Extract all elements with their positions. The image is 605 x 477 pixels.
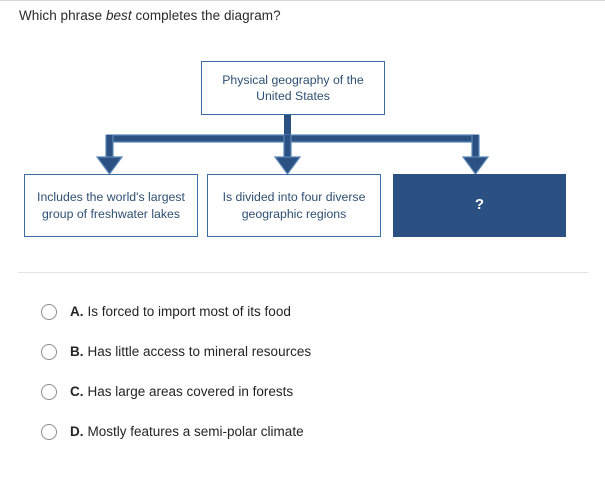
question-prompt: Which phrase best completes the diagram? bbox=[19, 7, 579, 25]
answer-label-d: Mostly features a semi-polar climate bbox=[88, 424, 304, 439]
answer-option-a-text: A.Is forced to import most of its food bbox=[70, 303, 291, 321]
diagram-node-geographic-regions: Is divided into four diverse geographic … bbox=[207, 174, 381, 237]
diagram-node-geographic-regions-label: Is divided into four diverse geographic … bbox=[214, 189, 374, 222]
answer-letter-a: A. bbox=[70, 304, 84, 319]
top-divider bbox=[0, 0, 605, 1]
answer-options-list: A.Is forced to import most of its food B… bbox=[0, 292, 605, 452]
radio-button-a[interactable] bbox=[41, 304, 57, 320]
answer-label-a: Is forced to import most of its food bbox=[88, 304, 291, 319]
answer-option-d[interactable]: D.Mostly features a semi-polar climate bbox=[0, 412, 605, 452]
answer-option-d-text: D.Mostly features a semi-polar climate bbox=[70, 423, 304, 441]
answer-option-b-text: B.Has little access to mineral resources bbox=[70, 343, 311, 361]
radio-button-c[interactable] bbox=[41, 384, 57, 400]
diagram-node-question-mark: ? bbox=[400, 197, 559, 214]
answer-label-c: Has large areas covered in forests bbox=[88, 384, 294, 399]
question-text-before: Which phrase bbox=[19, 8, 106, 23]
diagram-node-freshwater-lakes-label: Includes the world's largest group of fr… bbox=[31, 189, 191, 222]
answer-letter-b: B. bbox=[70, 344, 84, 359]
answer-option-b[interactable]: B.Has little access to mineral resources bbox=[0, 332, 605, 372]
diagram-node-freshwater-lakes: Includes the world's largest group of fr… bbox=[24, 174, 198, 237]
concept-diagram: Physical geography of the United States … bbox=[0, 50, 605, 265]
diagram-node-missing-answer: ? bbox=[393, 174, 566, 237]
radio-button-b[interactable] bbox=[41, 344, 57, 360]
diagram-node-root: Physical geography of the United States bbox=[201, 61, 385, 115]
question-text-after: completes the diagram? bbox=[132, 8, 281, 23]
diagram-node-root-label: Physical geography of the United States bbox=[208, 72, 378, 105]
question-emphasis-word: best bbox=[106, 8, 132, 23]
radio-button-d[interactable] bbox=[41, 424, 57, 440]
answer-option-a[interactable]: A.Is forced to import most of its food bbox=[0, 292, 605, 332]
answers-divider bbox=[18, 272, 588, 273]
answer-option-c[interactable]: C.Has large areas covered in forests bbox=[0, 372, 605, 412]
answer-label-b: Has little access to mineral resources bbox=[88, 344, 312, 359]
answer-option-c-text: C.Has large areas covered in forests bbox=[70, 383, 293, 401]
answer-letter-c: C. bbox=[70, 384, 84, 399]
answer-letter-d: D. bbox=[70, 424, 84, 439]
